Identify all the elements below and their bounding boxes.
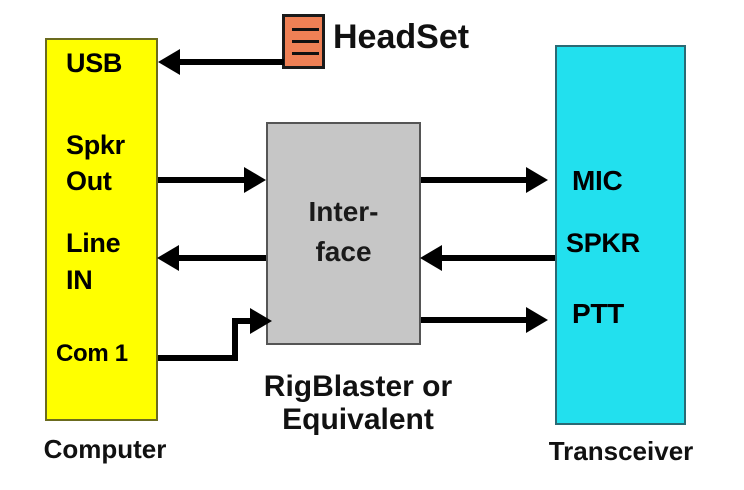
connector-spkr-to-interface-line bbox=[441, 255, 555, 261]
computer-port-in: IN bbox=[66, 265, 92, 296]
connector-spkrout-to-interface-line bbox=[158, 177, 246, 183]
connector-interface-to-mic-arrowhead bbox=[526, 167, 548, 193]
interface-label-line1: Inter- bbox=[266, 192, 421, 232]
connector-spkr-to-interface-arrowhead bbox=[420, 245, 442, 271]
connector-interface-to-ptt-arrowhead bbox=[526, 307, 548, 333]
computer-caption: Computer bbox=[30, 434, 180, 465]
interface-label-line2: face bbox=[266, 232, 421, 272]
headset-icon-line-2 bbox=[292, 40, 319, 43]
transceiver-port-spkr: SPKR bbox=[566, 228, 640, 259]
connector-com1-to-interface-arrowhead bbox=[250, 308, 272, 334]
connector-interface-to-linein-line bbox=[178, 255, 266, 261]
interface-label: Inter- face bbox=[266, 192, 421, 272]
transceiver-port-mic: MIC bbox=[572, 165, 622, 197]
connector-interface-to-linein-arrowhead bbox=[157, 245, 179, 271]
transceiver-caption: Transceiver bbox=[516, 436, 726, 467]
transceiver-port-ptt: PTT bbox=[572, 298, 624, 330]
connector-headset-to-usb-line bbox=[178, 59, 284, 65]
connector-headset-to-usb-arrowhead bbox=[158, 49, 180, 75]
computer-port-line: Line bbox=[66, 228, 120, 259]
headset-label: HeadSet bbox=[333, 18, 469, 57]
connector-com1-to-interface-segment-vertical bbox=[232, 318, 238, 361]
connector-spkrout-to-interface-arrowhead bbox=[244, 167, 266, 193]
connector-interface-to-ptt-line bbox=[421, 317, 529, 323]
interface-caption-line1: RigBlaster or bbox=[222, 370, 494, 403]
headset-icon-line-1 bbox=[292, 28, 319, 31]
computer-port-spkr: Spkr bbox=[66, 130, 125, 161]
computer-port-out: Out bbox=[66, 166, 112, 197]
diagram-canvas: USB Spkr Out Line IN Com 1 Computer Inte… bbox=[0, 0, 744, 490]
interface-caption-line2: Equivalent bbox=[222, 403, 494, 436]
connector-com1-to-interface-segment-horizontal-lower bbox=[158, 355, 238, 361]
interface-caption: RigBlaster or Equivalent bbox=[222, 370, 494, 436]
headset-icon bbox=[282, 14, 325, 69]
computer-port-com1: Com 1 bbox=[56, 340, 128, 368]
connector-interface-to-mic-line bbox=[421, 177, 529, 183]
computer-port-usb: USB bbox=[66, 48, 122, 79]
headset-icon-line-3 bbox=[292, 52, 319, 55]
